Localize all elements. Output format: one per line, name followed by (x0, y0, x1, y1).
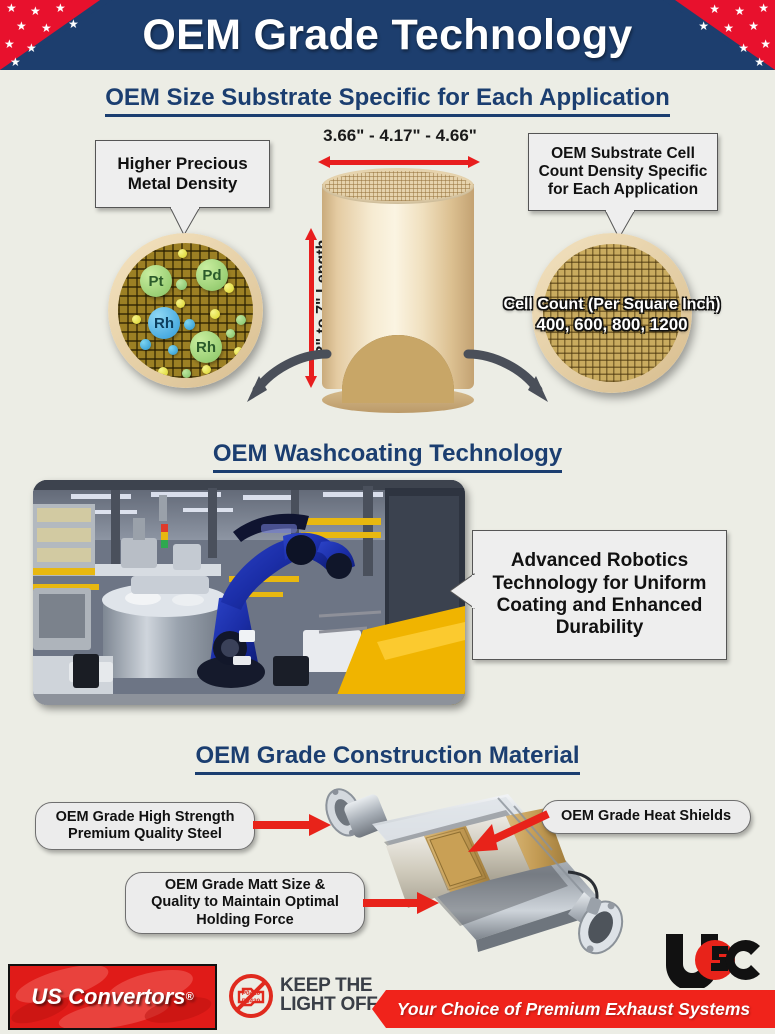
page-title: OEM Grade Technology (0, 0, 775, 70)
callout-line: Metal Density (128, 174, 238, 194)
metal-sphere-rh-blue: Rh (148, 307, 180, 339)
diameter-label: 3.66" - 4.17" - 4.66" (300, 126, 500, 146)
tagline-banner: Your Choice of Premium Exhaust Systems (372, 990, 775, 1028)
brand-name: US Convertors® (10, 966, 215, 1028)
page-header: ★ ★ ★ ★ ★ ★ ★ ★ ★ OEM Grade Technology ★… (0, 0, 775, 70)
label-high-strength-steel: OEM Grade High Strength Premium Quality … (35, 802, 255, 850)
callout-line: Durability (556, 617, 644, 639)
arrow-to-steel-shell (253, 812, 333, 838)
label-line: OEM Grade Matt Size & (165, 877, 325, 894)
callout-line: Technology for Uniform (493, 573, 707, 595)
callout-line: Count Density Specific (539, 163, 708, 181)
washcoating-factory-photo (33, 480, 465, 705)
substrate-cylinder (322, 168, 474, 403)
cell-count-title: Cell Count (Per Square Inch) (492, 296, 732, 314)
connector-arrow-left (245, 348, 335, 408)
callout-line: OEM Substrate Cell (551, 145, 695, 163)
callout-line: Coating and Enhanced (497, 595, 703, 617)
magnified-substrate-precious-metals: Pt Pd Rh Rh (108, 233, 263, 388)
section-title-substrate: OEM Size Substrate Specific for Each App… (0, 84, 775, 117)
label-line: OEM Grade High Strength (56, 809, 235, 826)
us-convertors-logo-plate: US Convertors® (8, 964, 217, 1030)
callout-line: for Each Application (548, 181, 698, 199)
callout-higher-precious-metal-density: Higher Precious Metal Density (95, 140, 270, 208)
tagline-text: Your Choice of Premium Exhaust Systems (397, 999, 750, 1020)
registered-mark: ® (185, 991, 193, 1003)
callout-advanced-robotics: Advanced Robotics Technology for Uniform… (472, 530, 727, 660)
callout-substrate-cell-count-density: OEM Substrate Cell Count Density Specifi… (528, 133, 718, 211)
arrow-to-heat-shields (462, 810, 552, 856)
keep-light-off-text: KEEP THE LIGHT OFF (280, 977, 378, 1014)
no-check-engine-light-icon: P0420 P0430 (228, 973, 274, 1019)
callout-line: Higher Precious (117, 154, 247, 174)
label-line: Holding Force (196, 912, 293, 929)
label-matt-size-quality: OEM Grade Matt Size & Quality to Maintai… (125, 872, 365, 934)
usc-logo (660, 930, 765, 988)
keep-the-light-off-badge: P0420 P0430 KEEP THE LIGHT OFF (228, 972, 388, 1020)
section-title-washcoating: OEM Washcoating Technology (0, 440, 775, 473)
arrow-to-matt (363, 890, 443, 916)
metal-sphere-rh-green: Rh (190, 331, 222, 363)
cell-count-values: 400, 600, 800, 1200 (492, 315, 732, 335)
metal-sphere-pt: Pt (140, 265, 172, 297)
section-title-construction: OEM Grade Construction Material (0, 742, 775, 775)
callout-tail-robotics (450, 570, 476, 612)
label-heat-shields: OEM Grade Heat Shields (541, 800, 751, 834)
label-line: Premium Quality Steel (68, 826, 222, 843)
callout-line: Advanced Robotics (511, 550, 688, 572)
diameter-arrow (318, 156, 480, 168)
connector-arrow-right (460, 348, 550, 408)
infographic-page: ★ ★ ★ ★ ★ ★ ★ ★ ★ OEM Grade Technology ★… (0, 0, 775, 1034)
label-line: Quality to Maintain Optimal (151, 894, 339, 911)
